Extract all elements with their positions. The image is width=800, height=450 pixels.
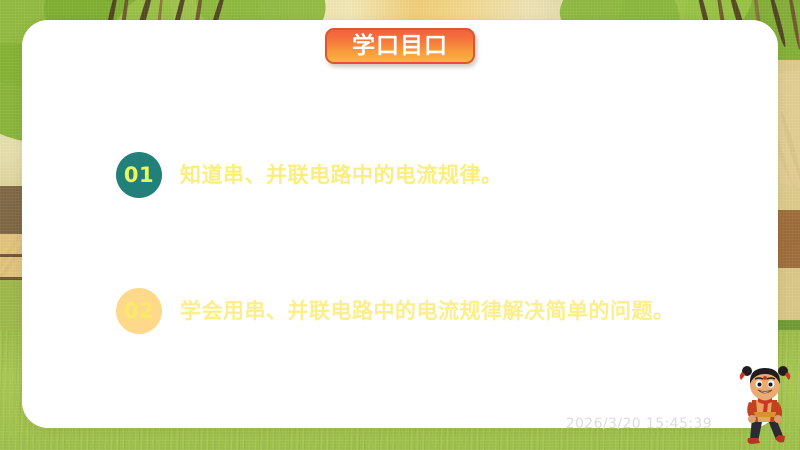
objective-number-badge: 02 bbox=[116, 288, 162, 334]
objective-number-badge: 01 bbox=[116, 152, 162, 198]
mascot-character-icon bbox=[736, 360, 794, 446]
objective-number: 02 bbox=[124, 301, 154, 322]
objective-text: 知道串、并联电路中的电流规律。 bbox=[180, 162, 503, 188]
objective-number: 01 bbox=[124, 165, 154, 186]
page-title-pill: 学口目口 bbox=[325, 28, 475, 64]
page-title: 学口目口 bbox=[352, 35, 448, 58]
timestamp-watermark: 2026/3/20 15:45:39 bbox=[566, 416, 712, 432]
slide-canvas: 学口目口 01 知道串、并联电路中的电流规律。 02 学会用串、并联电路中的电流… bbox=[0, 0, 800, 450]
objectives-list: 01 知道串、并联电路中的电流规律。 02 学会用串、并联电路中的电流规律解决简… bbox=[0, 0, 800, 450]
list-item: 02 学会用串、并联电路中的电流规律解决简单的问题。 bbox=[116, 288, 675, 334]
objective-text: 学会用串、并联电路中的电流规律解决简单的问题。 bbox=[180, 298, 675, 324]
list-item: 01 知道串、并联电路中的电流规律。 bbox=[116, 152, 503, 198]
